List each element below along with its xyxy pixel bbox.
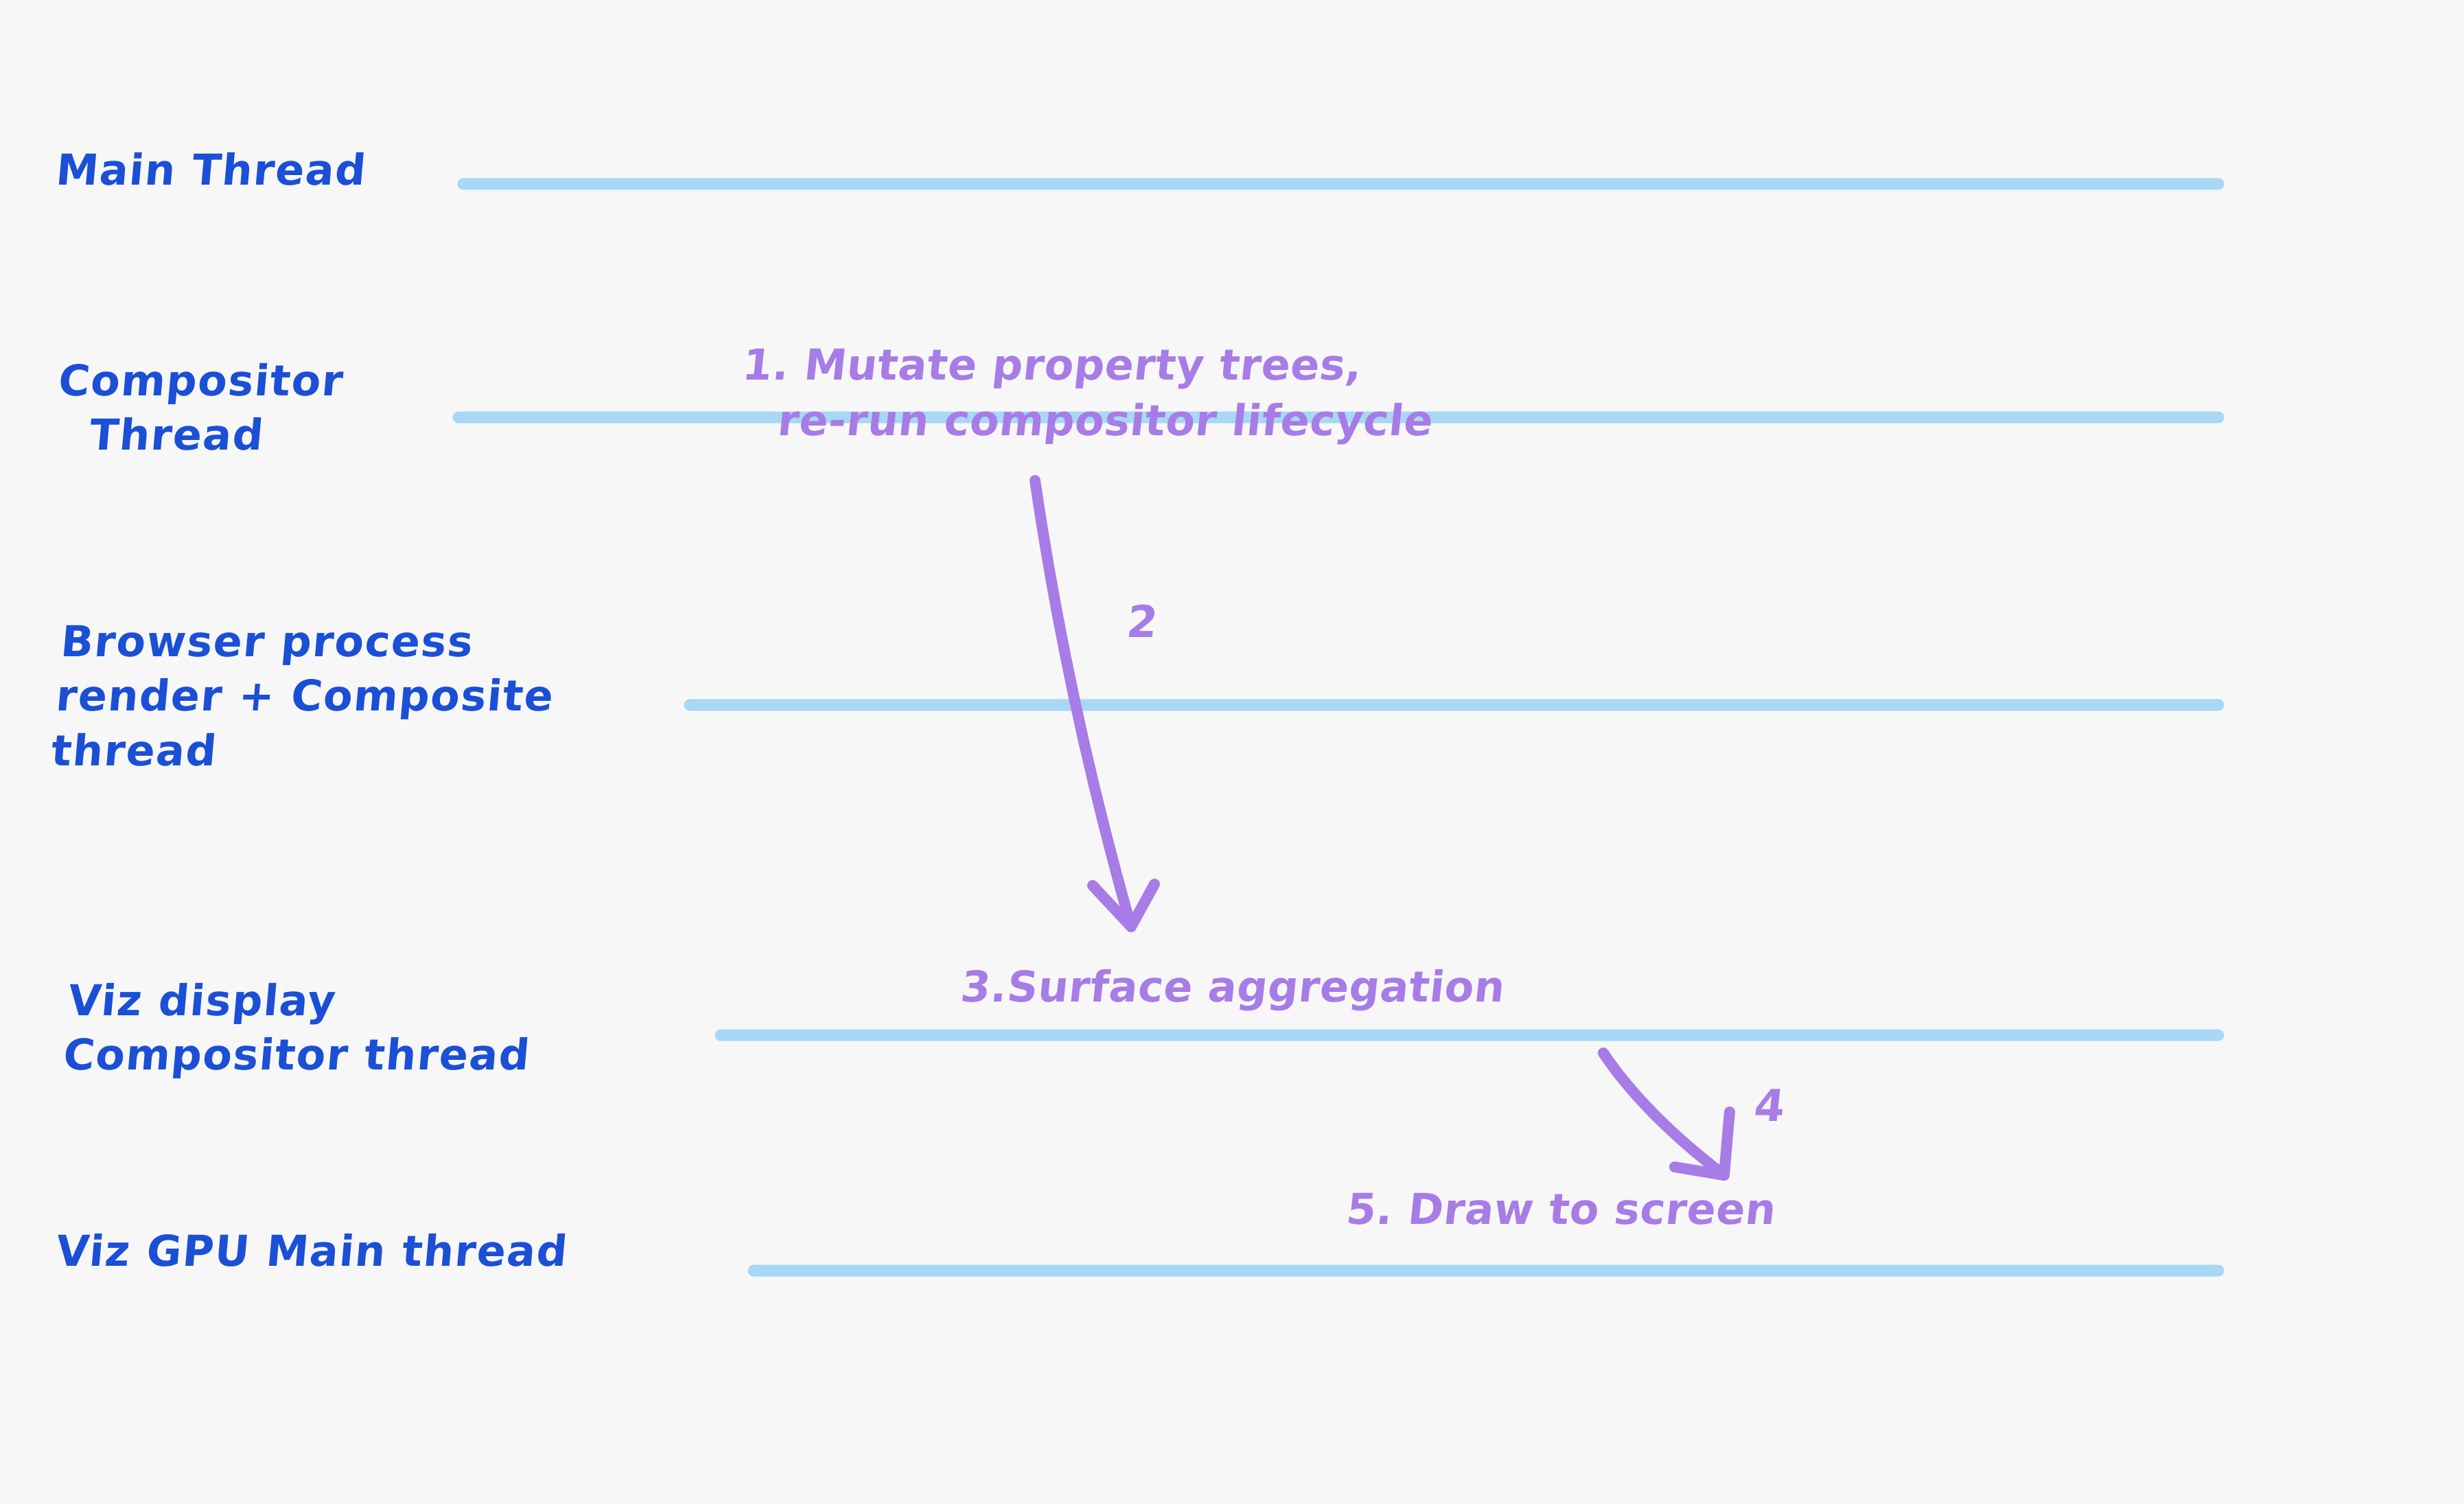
lane-label-line: render + Composite xyxy=(54,669,557,723)
lane-label-viz-display-compositor-thread: Viz displayCompositor thread xyxy=(61,973,537,1083)
lane-label-viz-gpu-main-thread: Viz GPU Main thread xyxy=(54,1224,571,1278)
arrow-shaft xyxy=(1035,481,1131,927)
diagram-canvas: Main Thread CompositorThread Browser pro… xyxy=(0,0,2464,1504)
annotation-step-3: 3.Surface aggregation xyxy=(958,960,1508,1015)
lane-label-line: Browser process xyxy=(58,614,561,669)
lane-label-line: Thread xyxy=(51,408,342,462)
lane-label-line: Viz GPU Main thread xyxy=(54,1224,571,1278)
arrow-2-compositor-to-viz-display xyxy=(1035,481,1154,927)
arrow-paths-group xyxy=(1035,481,1730,1175)
lane-label-line: Viz display xyxy=(66,973,537,1028)
arrow-shaft xyxy=(1603,1053,1724,1175)
lane-label-line: Main Thread xyxy=(54,143,369,197)
arrow-head xyxy=(1093,884,1154,927)
lane-label-main-thread: Main Thread xyxy=(54,143,369,197)
annotation-step-1: 1. Mutate property trees,re-run composit… xyxy=(734,338,1442,448)
step-number-4: 4 xyxy=(1752,1081,1788,1132)
annotation-line: 5. Draw to screen xyxy=(1344,1182,1779,1238)
lane-label-line: Compositor thread xyxy=(61,1028,533,1082)
lane-label-line: Compositor xyxy=(56,354,347,408)
step-number-2: 2 xyxy=(1124,597,1161,648)
arrow-head xyxy=(1675,1112,1730,1175)
arrow-4-viz-display-to-gpu-main xyxy=(1603,1053,1730,1175)
lane-label-line: thread xyxy=(49,724,552,778)
annotation-line: re-run compositor lifecycle xyxy=(734,393,1437,449)
annotation-line: 1. Mutate property trees, xyxy=(740,338,1442,393)
lane-label-browser-process-thread: Browser processrender + Compositethread xyxy=(49,614,561,778)
lane-label-compositor-thread: CompositorThread xyxy=(51,354,347,463)
annotation-step-5: 5. Draw to screen xyxy=(1344,1182,1779,1238)
annotation-line: 3.Surface aggregation xyxy=(958,960,1508,1015)
